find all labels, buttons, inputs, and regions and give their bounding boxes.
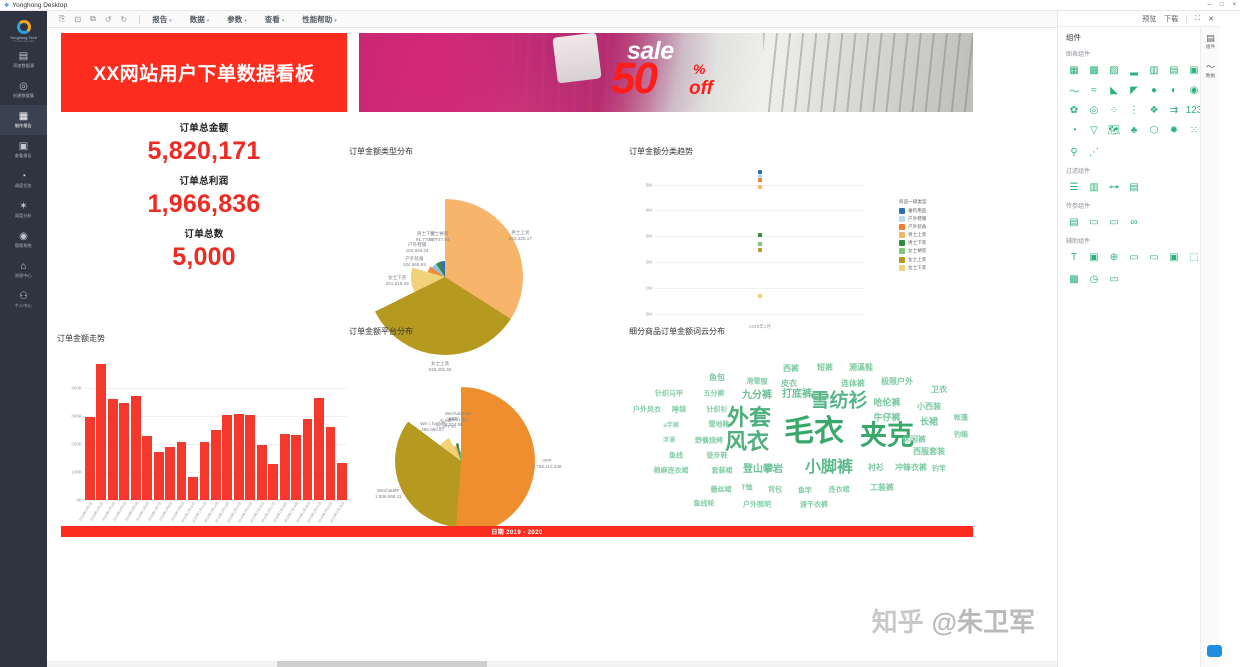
bar[interactable] [280,434,290,500]
scatter-point[interactable] [758,248,762,252]
legend-swatch [899,248,905,254]
sidebar-item-personal-center[interactable]: ⚇ 个人中心 [0,285,47,315]
wordcloud-word[interactable]: 帐篷 [954,415,968,422]
redo-icon[interactable]: ↻ [121,15,128,24]
sidebar-item-deep-analysis[interactable]: ✶ 深度分析 [0,195,47,225]
wordcloud-word[interactable]: 皮衣 [781,380,797,388]
chart-title: 订单金额分类趋势 [629,146,977,157]
bubble-icon[interactable]: ◎ [1086,102,1102,118]
wordcloud-word[interactable]: 蕾丝裙 [711,487,732,494]
sidebar-item-label: 创建数据集 [13,93,34,99]
bar[interactable] [119,403,129,500]
network-icon[interactable]: ⋰ [1086,144,1102,160]
kpi-total-profit: 订单总利润 1,966,836 [61,173,347,218]
bar[interactable] [257,445,267,500]
list-filter-icon[interactable]: ☰ [1066,179,1082,195]
bar[interactable] [131,396,141,500]
gridline [655,288,865,289]
sidebar-item-label: 查看报告 [15,153,32,159]
component-icon-grid: T▣⊕▭▭▣⬚ [1058,245,1220,267]
heatmap-table-icon[interactable]: ▨ [1106,62,1122,78]
wordcloud-word[interactable]: 棉麻连衣裙 [654,468,689,475]
wordcloud-word[interactable]: 长裙 [920,418,938,427]
analysis-icon: ✶ [19,201,27,212]
wordcloud-word[interactable]: 钓竿 [932,466,946,473]
wordcloud-word[interactable]: 牛仔裤 [873,414,900,423]
map-pin-icon[interactable]: ⚲ [1066,144,1082,160]
funnel-2-icon[interactable]: ▽ [1086,122,1102,138]
watermark-author: @朱卫军 [932,602,1035,639]
dot-plot-icon[interactable]: ⋮ [1126,102,1142,118]
wordcloud-word[interactable]: T恤 [741,485,752,492]
legend-label: 女士裙装 [908,248,926,254]
bar[interactable] [211,430,221,500]
wordcloud-word[interactable]: 外套 [727,407,771,429]
legend-item[interactable]: 垂钓用品 [899,208,973,214]
sidebar-item-create-dataset[interactable]: ◎ 创建数据集 [0,75,47,105]
wordcloud-word[interactable]: 冲锋衣裤 [895,464,927,472]
dataset-icon: ◎ [19,81,28,92]
wordcloud-word[interactable]: 短裤 [817,364,833,372]
web-icon[interactable]: ⊕ [1106,249,1122,265]
funnel-chart-icon[interactable]: ❖ [1146,102,1162,118]
bar[interactable] [314,398,324,500]
chart-title: 细分商品订单金额词云分布 [629,326,977,337]
pie-slice-label: WechatShop8,531.88 [445,411,471,423]
scatter-icon[interactable]: ⁘ [1106,102,1122,118]
watermark: 知乎 @朱卫军 [872,602,1035,639]
gridline [655,314,865,315]
bar[interactable] [222,415,232,500]
wordcloud-word[interactable]: 钓箱 [954,432,968,439]
slider-filter-icon[interactable]: ⊶ [1106,179,1122,195]
rail-tab-label: 数据 [1201,73,1220,79]
kpi-value: 1,966,836 [61,190,347,218]
chart-card-order-amount-by-type[interactable]: 订单金额类型分布 男士上装642,325.17女士上装635,491.58女士下… [349,146,621,331]
bar[interactable] [154,452,164,500]
wordcloud-word[interactable]: 徒步鞋 [707,453,728,460]
y-axis-tick: 400K [71,386,82,391]
data-icon: 〜 [1201,60,1220,73]
sidebar-item-schedule-task[interactable]: ◔ 调度任务 [0,165,47,195]
bar[interactable] [326,427,336,500]
button-icon[interactable]: ▭ [1126,249,1142,265]
legend-swatch [899,208,905,214]
wordcloud-word[interactable]: 打底裤 [782,390,812,400]
pie-chart-order-amount-by-platform: APP2,758,113.449WechatMP1,836,568.11We c… [349,339,621,534]
legend-swatch [899,224,905,230]
legend-swatch [899,265,905,271]
save-as-icon[interactable]: ⧉ [90,14,96,24]
wordcloud-word[interactable]: 睡袋 [672,407,686,414]
table-icon[interactable]: ▦ [1066,62,1082,78]
bar[interactable] [303,419,313,500]
pie-slice [451,451,471,471]
hero-discount-text: 50 [611,57,656,101]
chevron-down-icon: ▾ [282,18,285,24]
minimize-button[interactable]: – [1208,1,1211,10]
menu-parameter-label: 参数 [227,15,242,24]
kpi-total-orders: 订单总数 5,000 [61,226,347,271]
watermark-site: 知乎 [872,602,924,639]
pie-slice-label: 户外鞋服103,946.04 [406,242,429,254]
line-chart-icon[interactable]: 〜 [1066,82,1082,98]
stacked-area-icon[interactable]: ◤ [1126,82,1142,98]
sidebar-logo: Yonghong Tech One Stop Big Data [0,11,47,45]
pie-slice-label: 女士下装221,618.49 [386,275,409,287]
wordcloud-word[interactable]: 哈伦裤 [873,399,900,408]
pie-slice-label: APP2,758,113.449 [532,458,561,470]
tab-param-icon[interactable]: ▭ [1086,214,1102,230]
scrollbar-thumb[interactable] [277,661,487,667]
right-panel: 预览 下载 ⛶ ✕ 组件 图表组件▦▩▨▂▥▤▣〜≈◣◤●◐◉✿◎⁘⋮❖⇉123… [1057,11,1220,667]
view-report-icon: ▣ [19,141,28,152]
y-axis-tick: 2M [646,260,652,265]
application-window: ❖ Yonghong Desktop – □ × Yonghong Tech O… [0,0,1240,667]
bar[interactable] [245,415,255,500]
y-axis-tick: 100K [71,470,82,475]
polar-icon[interactable]: ✹ [1166,122,1182,138]
bar[interactable] [268,464,278,500]
sidebar-item-label: 个人中心 [15,303,32,309]
sankey-icon[interactable]: ⇉ [1166,102,1182,118]
sidebar-item-view-report[interactable]: ▣ 查看报告 [0,135,47,165]
wordcloud-word[interactable]: 风衣 [725,431,769,453]
save-icon[interactable]: ⊡ [74,15,81,24]
legend-swatch [899,232,905,238]
kpi-label: 订单总数 [61,226,347,240]
yonghong-mark-icon [17,20,31,34]
legend-label: 女士上装 [908,257,926,263]
bar[interactable] [188,477,198,500]
bar[interactable] [337,463,347,500]
menu-data[interactable]: 数据▾ [190,14,210,25]
sidebar-item-label: 消息中心 [15,273,32,279]
hero-percent-text: % [693,61,705,77]
legend-item[interactable]: 女士上装 [899,257,973,263]
wordcloud-word[interactable]: 速干衣裤 [800,502,828,509]
legend-label: 女士下装 [908,265,926,271]
bar[interactable] [96,364,106,500]
yonghong-logo-icon: ❖ [4,2,9,9]
stacked-bar-icon[interactable]: ▤ [1166,62,1182,78]
component-icon-grid: ▩◷▭ [1058,267,1220,289]
legend-label: 垂钓用品 [908,208,926,214]
dashboard-title-banner: XX网站用户下单数据看板 [61,33,347,112]
left-sidebar: Yonghong Tech One Stop Big Data ▤ 添加数据源 … [0,11,47,667]
kpi-total-amount: 订单总金额 5,820,171 [61,120,347,165]
legend-item[interactable]: 户外装备 [899,224,973,230]
menu-view[interactable]: 查看▾ [265,14,285,25]
bar[interactable] [291,435,301,500]
legend-swatch [899,257,905,263]
radar-icon[interactable]: ⬡ [1146,122,1162,138]
y-axis-tick: 0K [76,498,82,503]
sidebar-item-message-center[interactable]: ⌂ 消息中心 [0,255,47,285]
pie-slice-label: WechatMP1,836,568.11 [375,488,401,500]
sidebar-item-label: 管理系统 [15,243,32,249]
components-icon: ▤ [1201,33,1220,44]
date-footer-bar: 日期 2019 - 2020 [61,526,973,537]
bell-icon: ⌂ [20,261,26,272]
user-icon: ⚇ [19,291,28,302]
container-icon[interactable]: ▭ [1146,249,1162,265]
sidebar-item-label: 调度任务 [15,183,32,189]
wordcloud-word[interactable]: 极限户外 [881,378,913,386]
pie-slice-label: 户外装备104,665.92 [403,256,426,268]
wordcloud-word[interactable]: 卫衣 [931,386,947,394]
wordcloud-word[interactable]: 鱼包 [709,374,725,382]
column-chart-icon[interactable]: ▥ [1146,62,1162,78]
chart-report-icon: ▦ [19,111,28,122]
legend-label: 男士上装 [908,232,926,238]
wordcloud-word[interactable]: 浮漂 [663,438,675,444]
right-panel-actions: 预览 下载 ⛶ ✕ [1058,11,1220,27]
wordcloud-word[interactable]: 毛衣 [784,417,844,447]
menu-parameter[interactable]: 参数▾ [227,14,247,25]
chevron-down-icon: ▾ [334,18,337,24]
bar-chart-order-amount-trend: 0K100K200K300K400K2019年1月1日2019年1月2日2019… [57,346,349,536]
wordcloud-word[interactable]: 户外照明 [743,502,771,509]
pie-chart-order-amount-by-type: 男士上装642,325.17女士上装635,491.58女士下装221,618.… [349,159,621,344]
chart-card-order-amount-trend[interactable]: 订单金额走势 0K100K200K300K400K2019年1月1日2019年1… [57,333,349,523]
bar-series [85,360,347,500]
main-toolbar: ⎘ ⊡ ⧉ ↺ ↻ 报告▾ 数据▾ 参数▾ 查看▾ 性能帮助▾ [47,11,1057,28]
new-report-icon[interactable]: ⎘ [59,14,65,24]
component-section-label: 传参组件 [1058,197,1220,210]
database-icon: ▤ [19,51,28,62]
wordcloud-word[interactable]: 西服套装 [913,448,945,456]
action-divider [1186,15,1187,23]
wordcloud-word[interactable]: 小脚裤 [805,460,853,476]
bar-chart-icon[interactable]: ▂ [1126,62,1142,78]
date-range-label: 日期 2019 - 2020 [491,527,542,536]
logo-subtext: One Stop Big Data [13,40,35,43]
menu-report[interactable]: 报告▾ [152,14,172,25]
page-title: XX网站用户下单数据看板 [93,59,314,86]
chart-title: 订单金额平台分布 [349,326,621,337]
settings-system-icon: ◉ [19,231,28,242]
menu-performance-help-label: 性能帮助 [302,15,332,24]
chart-title: 订单金额类型分布 [349,146,621,157]
components-sections: 图表组件▦▩▨▂▥▤▣〜≈◣◤●◐◉✿◎⁘⋮❖⇉123◔▽🗺♣⬡✹⁙⚲⋰过滤组件… [1058,45,1220,289]
legend-label: 户外装备 [908,224,926,230]
date-filter-icon[interactable]: ▤ [1126,179,1142,195]
scatter-point[interactable] [758,233,762,237]
canvas-horizontal-scrollbar[interactable] [47,661,1057,667]
wordcloud-word[interactable]: 鱼竿 [798,488,812,495]
legend-title: 商品一级类型 [899,199,973,205]
clock-icon: ◔ [20,171,26,182]
expand-icon[interactable]: ⛶ [1195,15,1200,23]
legend-item[interactable]: 户外鞋服 [899,216,973,222]
component-icon-grid: ▤▭▭∞ [1058,210,1220,232]
legend-label: 男士下装 [908,240,926,246]
bar-plot-area: 0K100K200K300K400K [85,360,347,500]
hero-object [552,33,601,84]
component-section-label: 图表组件 [1058,45,1220,58]
wordcloud-word[interactable]: 野餐烧烤 [695,438,723,445]
area-chart-icon[interactable]: ◣ [1106,82,1122,98]
tree-icon[interactable]: ♣ [1126,122,1142,138]
pie-slice-label: 女士裙装87,747.84 [429,231,449,243]
scatter-point[interactable] [758,294,762,298]
sidebar-item-label: 添加数据源 [13,63,34,69]
text-icon[interactable]: T [1066,249,1082,265]
y-axis-tick: 1M [646,286,652,291]
chat-support-button[interactable] [1207,645,1222,657]
sidebar-item-manage-system[interactable]: ◉ 管理系统 [0,225,47,255]
pie-chart-icon[interactable]: ● [1146,82,1162,98]
kpi-label: 订单总金额 [61,120,347,134]
wordcloud-word[interactable]: 休闲裤 [902,436,926,444]
label-icon[interactable]: ▭ [1106,271,1122,287]
window-controls: – □ × [1208,1,1236,10]
bar[interactable] [142,436,152,500]
donut-chart-icon[interactable]: ◐ [1166,82,1182,98]
menu-performance-help[interactable]: 性能帮助▾ [302,14,337,25]
param-list-icon[interactable]: ▤ [1066,214,1082,230]
wordcloud-word[interactable]: 五分裤 [704,391,725,398]
rail-tab-label: 组件 [1201,44,1220,50]
wordcloud-word[interactable]: a字裙 [663,423,678,429]
chart-legend: 商品一级类型垂钓用品户外鞋服户外装备男士上装男士下装女士裙装女士上装女士下装 [899,199,973,273]
wordcloud-word[interactable]: 针织马甲 [655,391,683,398]
chart-card-category-trend[interactable]: 订单金额分类趋势 0M1M2M3M4M5M2019年1月商品一级类型垂钓用品户外… [629,146,977,331]
kpi-value: 5,820,171 [61,137,347,165]
map-icon[interactable]: 🗺 [1106,122,1122,138]
toolbar-divider [139,15,140,24]
wordcloud-word[interactable]: 连衣裙 [829,487,850,494]
chevron-down-icon: ▾ [244,18,247,24]
chart-title: 订单金额走势 [57,333,349,344]
window-title: Yonghong Desktop [12,2,67,9]
component-icon-grid: ⚲⋰ [1058,140,1220,162]
wordcloud-word[interactable]: 工装裤 [870,484,894,492]
tree-filter-icon[interactable]: ▥ [1086,179,1102,195]
hero-promo-image: sale 50 % off [359,33,973,112]
bar[interactable] [165,447,175,500]
wordcloud-word[interactable]: 鱼线轮 [694,501,715,508]
chart-card-wordcloud[interactable]: 细分商品订单金额词云分布 毛衣夹克外套风衣雪纺衫小脚裤登山攀岩九分裤打底裤哈伦裤… [629,326,977,521]
wordcloud-word[interactable]: 套装裙 [712,468,733,475]
image-icon[interactable]: ▣ [1086,249,1102,265]
window-titlebar: ❖ Yonghong Desktop – □ × [0,0,1240,11]
close-icon[interactable]: ✕ [1208,15,1214,23]
component-section-label: 辅助组件 [1058,232,1220,245]
y-axis-tick: 5M [646,182,652,187]
download-button[interactable]: 下载 [1164,14,1178,24]
scatter-plot-area: 0M1M2M3M4M5M [655,169,865,314]
menu-report-label: 报告 [152,15,167,24]
legend-swatch [899,240,905,246]
wordcloud-word[interactable]: 衬衫 [868,464,884,472]
hero-off-text: off [689,78,713,100]
wordcloud-word[interactable]: 登山攀岩 [743,465,783,475]
wordcloud-word[interactable]: 鱼线 [669,453,683,460]
wordcloud-word[interactable]: 滑雪服 [747,379,768,386]
legend-label: 户外鞋服 [908,216,926,222]
chevron-down-icon: ▾ [207,18,210,24]
bar[interactable] [177,442,187,500]
bar[interactable] [85,417,95,500]
chart-card-order-amount-by-platform[interactable]: 订单金额平台分布 APP2,758,113.449WechatMP1,836,5… [349,326,621,521]
maximize-button[interactable]: □ [1220,1,1224,10]
kpi-label: 订单总利润 [61,173,347,187]
legend-item[interactable]: 男士下装 [899,240,973,246]
y-axis-tick: 0M [646,312,652,317]
multi-line-icon[interactable]: ≈ [1086,82,1102,98]
right-panel-rail: ▤ 组件 〜 数据 [1200,27,1220,667]
bar[interactable] [200,442,210,500]
close-button[interactable]: × [1232,1,1236,10]
sidebar-item-make-report[interactable]: ▦ 制作报告 [0,105,47,135]
scatter-point[interactable] [758,178,762,182]
cross-table-icon[interactable]: ▩ [1086,62,1102,78]
gauge-icon[interactable]: ◔ [1066,122,1082,138]
wordcloud-word[interactable]: 连体裤 [841,380,865,388]
link-param-icon[interactable]: ∞ [1126,214,1142,230]
sidebar-item-label: 制作报告 [15,123,32,129]
component-section-label: 过滤组件 [1058,162,1220,175]
wordcloud-word[interactable]: 户外风衣 [633,407,661,414]
components-panel-header: 组件 [1058,27,1220,45]
wordcloud-word[interactable]: 溯溪鞋 [849,364,873,372]
preview-button[interactable]: 预览 [1142,14,1156,24]
layout-icon[interactable]: ▩ [1066,271,1082,287]
legend-item[interactable]: 女士裙装 [899,248,973,254]
tab-icon[interactable]: ▣ [1166,249,1182,265]
gridline [655,262,865,263]
report-canvas[interactable]: XX网站用户下单数据看板 sale 50 % off 订单总金额 5,820,1… [47,28,1057,667]
pie-slice [429,261,461,293]
rail-tab-data[interactable]: 〜 数据 [1201,54,1220,83]
scatter-point[interactable] [758,242,762,246]
component-icon-grid: ▦▩▨▂▥▤▣〜≈◣◤●◐◉✿◎⁘⋮❖⇉123◔▽🗺♣⬡✹⁙ [1058,58,1220,140]
wordcloud-word[interactable]: 雪纺衫 [810,392,867,411]
rail-tab-components[interactable]: ▤ 组件 [1201,27,1220,54]
wordcloud-word[interactable]: 雪地靴 [709,422,730,429]
input-param-icon[interactable]: ▭ [1106,214,1122,230]
legend-item[interactable]: 女士下装 [899,265,973,271]
kpi-group: 订单总金额 5,820,171 订单总利润 1,966,836 订单总数 5,0… [61,120,347,279]
wordcloud-word[interactable]: 针织衫 [707,407,728,414]
wordcloud-word[interactable]: 九分裤 [742,391,772,401]
sidebar-item-add-datasource[interactable]: ▤ 添加数据源 [0,45,47,75]
rose-chart-icon[interactable]: ✿ [1066,102,1082,118]
wordcloud-word[interactable]: 小西装 [917,403,941,411]
y-axis-tick: 300K [71,414,82,419]
kpi-value: 5,000 [61,243,347,271]
wordcloud-word[interactable]: 西裤 [783,365,799,373]
component-icon-grid: ☰▥⊶▤ [1058,175,1220,197]
y-axis-tick: 4M [646,208,652,213]
wordcloud-word[interactable]: 背包 [768,487,782,494]
y-axis-tick: 200K [71,442,82,447]
scatter-point[interactable] [758,185,762,189]
undo-icon[interactable]: ↺ [105,15,112,24]
legend-item[interactable]: 男士上装 [899,232,973,238]
sidebar-item-label: 深度分析 [15,213,32,219]
menu-data-label: 数据 [190,15,205,24]
legend-swatch [899,216,905,222]
bar[interactable] [108,399,118,500]
chevron-down-icon: ▾ [169,18,172,24]
y-axis-tick: 3M [646,234,652,239]
hero-rack [763,33,973,112]
bar[interactable] [234,414,244,500]
clock-icon[interactable]: ◷ [1086,271,1102,287]
